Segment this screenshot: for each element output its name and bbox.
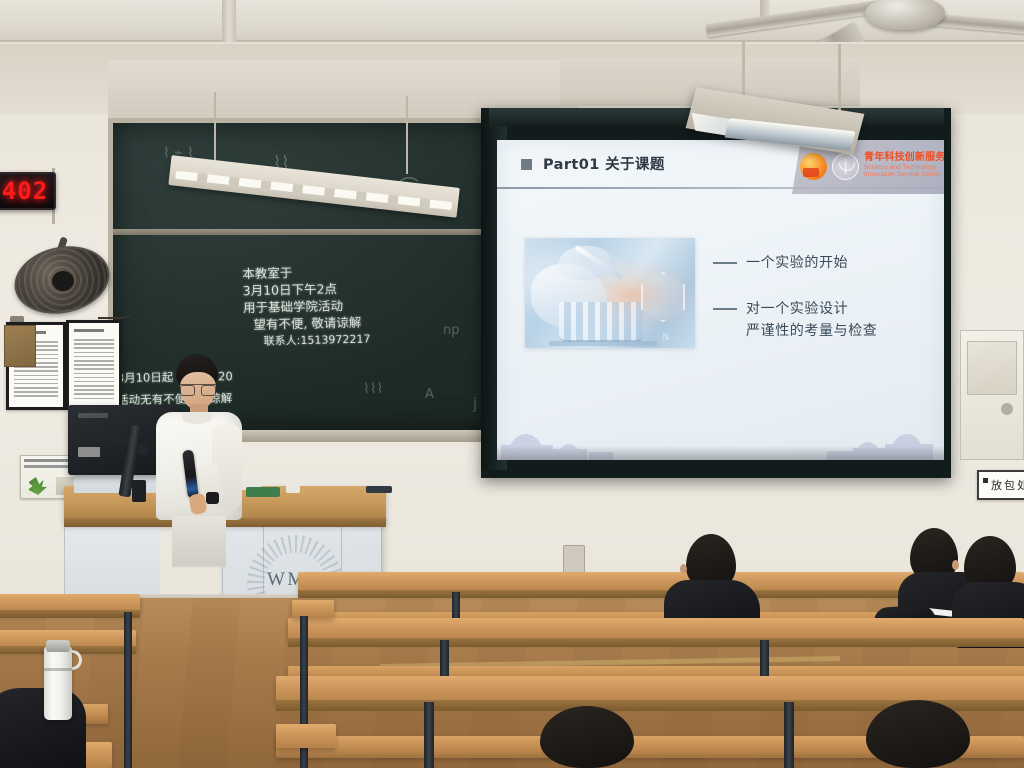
chalk-mark-j: j [473,395,477,413]
monitor-logo [78,413,108,418]
clock-digits: 402 [2,177,48,205]
light-suspension-rod [838,44,841,110]
test-tubes-shape [559,302,643,342]
desk-leg [784,702,794,768]
light-suspension-rod [742,40,745,102]
notice-line: 联系人:1513972217 [244,329,454,350]
slide-bottom-shade [497,446,944,460]
sun-emblem-icon [800,153,827,180]
student-head [866,700,970,768]
blackboard-notice: 本教室于 3月10日下午2点 用于基础学院活动 望有不便, 敬请谅解 联系人:1… [242,261,454,350]
wall-cabinet [960,330,1024,460]
student [524,706,654,768]
thermos-bottle [44,646,72,720]
student-desk [276,724,336,748]
slide-laboratory-photo: N [525,238,695,348]
remote-control [366,486,392,493]
student-head [540,706,634,768]
slide-point-text: 一个实验的开始 [746,252,848,274]
desk-edge [288,638,1024,647]
monitor-label-sticker [78,447,100,457]
thermos-ring [44,668,72,671]
desk-leg [124,612,132,768]
slide-bullet-list: 一个实验的开始 对一个实验设计 严谨性的考量与检查 [713,252,939,366]
wall-mounted-fan [14,243,110,317]
desk-leg [424,702,434,768]
notice-text-lines [74,339,114,399]
student-ear [680,564,687,574]
slide-section-title: Part01 关于课题 [543,153,665,174]
fan-hub [865,0,945,30]
slide-header: Part01 关于课题 青年科技创新服务中心 Science and Techn… [497,140,944,188]
fan-power-cord [98,303,132,319]
logo-chinese-name: 青年科技创新服务中心 [864,153,944,164]
chalk-mark-a: A [425,387,434,402]
notice-board [66,320,122,410]
presenter-collar [182,412,212,424]
chalk-box [286,481,300,493]
presentation-slide[interactable]: Part01 关于课题 青年科技创新服务中心 Science and Techn… [497,140,944,460]
slide-bullet-icon [521,159,532,170]
molecule-hexagon-icon [641,272,685,322]
notice-heading [74,329,104,332]
plant-icon [26,477,48,495]
wall-socket-box [563,545,585,573]
classroom-scene: ⌇ ⌁ ⌇ ⌇⌇ ⌒ 4 np Ag A j ⌇⌇⌇ 本教室于 3月10日下午2… [0,0,1024,768]
tube-rack-shape [549,341,657,346]
student [852,700,992,768]
seal-emblem-icon [832,153,859,180]
cabinet-panel [967,341,1017,395]
bag-area-sign: 放包处 [977,470,1024,500]
logo-text-block: 青年科技创新服务中心 Science and Technology Innova… [864,153,944,179]
logo-english-line-2: Innovation Service Center [864,172,944,179]
sign-bullet-icon [983,478,988,483]
dash-icon [713,262,737,264]
ceiling-beam [222,0,236,46]
slide-point-text: 对一个实验设计 严谨性的考量与检查 [746,298,877,342]
student-torso [0,688,86,768]
logo-english-line-1: Science and Technology [864,165,944,172]
presenter-hand [188,493,207,515]
light-suspension-rod [406,96,408,174]
notice-brown-sheet [4,325,36,367]
light-suspension-rod [214,92,216,160]
slide-point: 对一个实验设计 严谨性的考量与检查 [713,298,939,342]
led-wall-clock: 402 [0,172,56,210]
molecule-label: N [663,332,670,342]
desk-edge [0,610,140,618]
monitor-arm-clamp [132,480,146,502]
wristwatch [206,492,219,504]
eyeglasses-icon [180,384,216,393]
student-desk [292,600,334,618]
thermos-cap [46,640,70,652]
cabinet-knob [1001,403,1013,415]
fan-hub [52,271,74,291]
chalk-mark: ⌇⌇⌇ [363,381,384,397]
sign-text: 放包处 [991,477,1024,493]
dash-icon [713,308,737,310]
slide-point: 一个实验的开始 [713,252,939,274]
